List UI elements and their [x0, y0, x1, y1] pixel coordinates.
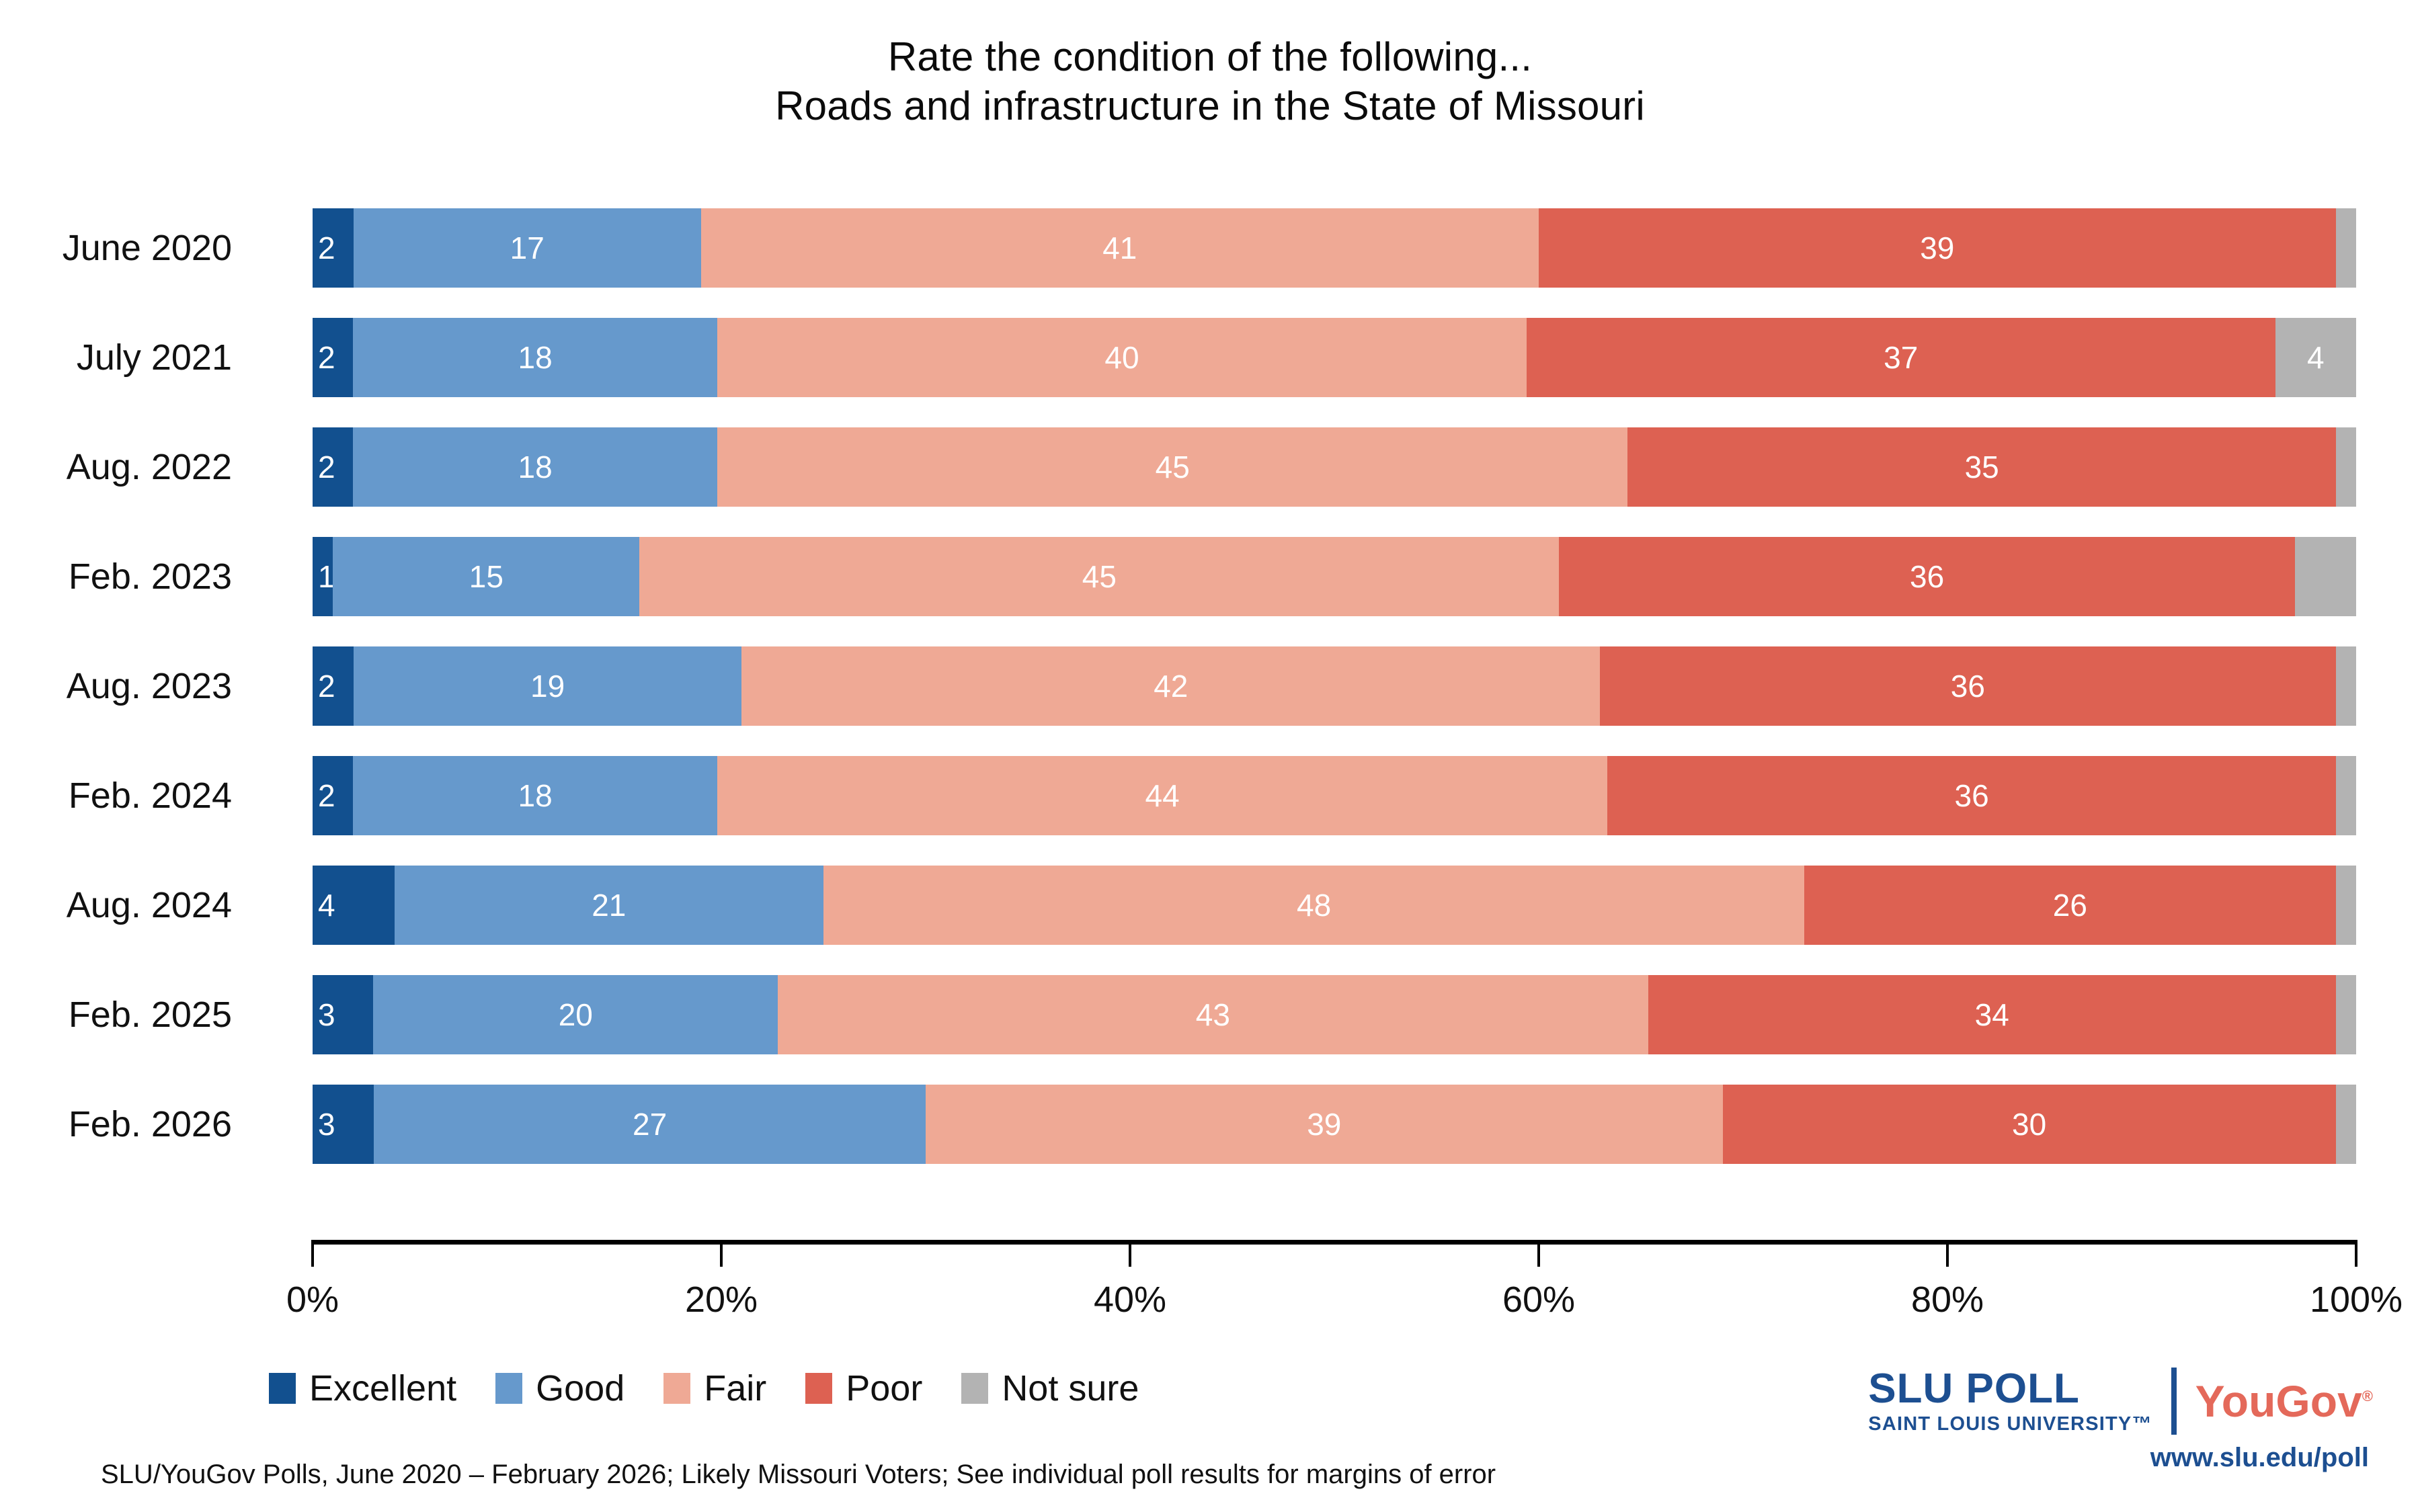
bar-segment-poor[interactable]: 34: [1648, 975, 2336, 1054]
bar-segment-excellent[interactable]: 2: [313, 427, 353, 507]
title-line-1: Rate the condition of the following...: [0, 32, 2420, 81]
bar-segment-excellent[interactable]: 2: [313, 208, 354, 288]
bar-segment-good[interactable]: 27: [374, 1085, 926, 1164]
y-axis-category-label: Aug. 2024: [0, 866, 232, 945]
x-axis-tick: [311, 1240, 314, 1267]
bar-value-label: 45: [1082, 561, 1117, 592]
bar-value-label: 4: [2307, 342, 2325, 373]
yougov-wordmark: YouGov: [2195, 1376, 2362, 1426]
x-axis-tick: [1946, 1240, 1949, 1267]
x-axis-tick-label: 0%: [286, 1279, 339, 1320]
chart-legend: ExcellentGoodFairPoorNot sure: [269, 1368, 1178, 1409]
brand-logo: SLU POLL SAINT LOUIS UNIVERSITY™ YouGov®…: [1868, 1368, 2373, 1473]
chart-row: Feb. 20263273930: [313, 1085, 2356, 1164]
legend-swatch-icon: [663, 1373, 690, 1404]
x-axis-tick: [1537, 1240, 1540, 1267]
y-axis-category-label: Aug. 2023: [0, 646, 232, 726]
bar-value-label: 36: [1955, 780, 1989, 811]
bar-value-label: 40: [1104, 342, 1139, 373]
bar-segment-good[interactable]: 19: [354, 646, 742, 726]
bar-value-label: 2: [318, 233, 335, 263]
legend-label: Poor: [846, 1368, 922, 1409]
x-axis: 0%20%40%60%80%100%: [313, 1240, 2356, 1241]
bar-value-label: 39: [1920, 233, 1954, 263]
bar-segment-not-sure[interactable]: [2336, 756, 2356, 835]
bar-value-label: 39: [1307, 1109, 1341, 1140]
legend-swatch-icon: [961, 1373, 988, 1404]
bar-segment-fair[interactable]: 45: [639, 537, 1559, 616]
registered-mark-icon: ®: [2362, 1388, 2373, 1404]
title-line-2: Roads and infrastructure in the State of…: [0, 81, 2420, 130]
chart-plot-area: June 20202174139July 202121840374Aug. 20…: [313, 208, 2356, 1196]
bar-value-label: 18: [518, 342, 552, 373]
x-axis-tick-label: 80%: [1911, 1279, 1984, 1320]
source-note: SLU/YouGov Polls, June 2020 – February 2…: [101, 1460, 1496, 1490]
stacked-bar: 1154536: [313, 537, 2356, 616]
slu-poll-wordmark: SLU POLL: [1868, 1368, 2080, 1410]
bar-segment-not-sure[interactable]: [2336, 975, 2356, 1054]
stacked-bar: 2184436: [313, 756, 2356, 835]
bar-value-label: 41: [1102, 233, 1137, 263]
bar-value-label: 4: [318, 890, 335, 921]
stacked-bar: 3204334: [313, 975, 2356, 1054]
legend-item[interactable]: Poor: [805, 1368, 922, 1409]
stacked-bar: 3273930: [313, 1085, 2356, 1164]
bar-segment-not-sure[interactable]: [2336, 866, 2356, 945]
bar-value-label: 15: [469, 561, 503, 592]
bar-value-label: 34: [1975, 999, 2009, 1030]
bar-segment-excellent[interactable]: 2: [313, 318, 353, 397]
bar-value-label: 35: [1965, 452, 1999, 482]
bar-segment-fair[interactable]: 43: [778, 975, 1648, 1054]
y-axis-category-label: Feb. 2026: [0, 1085, 232, 1164]
slu-poll-logo: SLU POLL SAINT LOUIS UNIVERSITY™: [1868, 1368, 2152, 1434]
x-axis-line: [313, 1240, 2356, 1245]
y-axis-category-label: Feb. 2024: [0, 756, 232, 835]
y-axis-category-label: July 2021: [0, 318, 232, 397]
chart-row: July 202121840374: [313, 318, 2356, 397]
bar-segment-excellent[interactable]: 3: [313, 1085, 374, 1164]
bar-segment-good[interactable]: 17: [354, 208, 701, 288]
stacked-bar: 2174139: [313, 208, 2356, 288]
bar-segment-excellent[interactable]: 4: [313, 866, 395, 945]
legend-item[interactable]: Fair: [663, 1368, 766, 1409]
chart-row: Aug. 20232194236: [313, 646, 2356, 726]
bar-segment-fair[interactable]: 40: [717, 318, 1527, 397]
bar-segment-excellent[interactable]: 2: [313, 756, 353, 835]
bar-segment-poor[interactable]: 39: [1539, 208, 2336, 288]
bar-value-label: 26: [2053, 890, 2087, 921]
legend-swatch-icon: [805, 1373, 832, 1404]
bar-segment-fair[interactable]: 39: [926, 1085, 1723, 1164]
chart-title: Rate the condition of the following... R…: [0, 32, 2420, 130]
legend-label: Not sure: [1002, 1368, 1139, 1409]
chart-row: Aug. 20244214826: [313, 866, 2356, 945]
bar-segment-good[interactable]: 21: [395, 866, 823, 945]
legend-label: Excellent: [309, 1368, 456, 1409]
bar-segment-good[interactable]: 18: [353, 427, 717, 507]
bar-segment-poor[interactable]: 26: [1804, 866, 2335, 945]
bar-value-label: 44: [1145, 780, 1180, 811]
chart-row: June 20202174139: [313, 208, 2356, 288]
bar-value-label: 30: [2012, 1109, 2046, 1140]
bar-value-label: 21: [592, 890, 626, 921]
x-axis-tick-label: 20%: [685, 1279, 758, 1320]
bar-value-label: 20: [559, 999, 593, 1030]
bar-value-label: 18: [518, 452, 552, 482]
bar-value-label: 48: [1297, 890, 1331, 921]
bar-value-label: 45: [1156, 452, 1190, 482]
legend-label: Fair: [704, 1368, 766, 1409]
bar-value-label: 37: [1884, 342, 1918, 373]
stacked-bar: 2184535: [313, 427, 2356, 507]
bar-value-label: 42: [1154, 671, 1188, 702]
bar-segment-poor[interactable]: 36: [1600, 646, 2335, 726]
x-axis-tick: [720, 1240, 723, 1267]
y-axis-category-label: Feb. 2023: [0, 537, 232, 616]
bar-segment-fair[interactable]: 41: [701, 208, 1539, 288]
stacked-bar: 4214826: [313, 866, 2356, 945]
bar-value-label: 2: [318, 671, 335, 702]
chart-row: Feb. 20253204334: [313, 975, 2356, 1054]
y-axis-category-label: June 2020: [0, 208, 232, 288]
logo-divider: [2171, 1368, 2177, 1435]
bar-value-label: 18: [518, 780, 552, 811]
x-axis-tick-label: 40%: [1094, 1279, 1166, 1320]
y-axis-category-label: Aug. 2022: [0, 427, 232, 507]
logo-row: SLU POLL SAINT LOUIS UNIVERSITY™ YouGov®: [1868, 1368, 2373, 1435]
bar-segment-poor[interactable]: 30: [1723, 1085, 2336, 1164]
legend-item[interactable]: Excellent: [269, 1368, 456, 1409]
bar-value-label: 27: [633, 1109, 667, 1140]
saint-louis-university-text: SAINT LOUIS UNIVERSITY™: [1868, 1415, 2152, 1434]
bar-value-label: 3: [318, 1109, 335, 1140]
stacked-bar: 21840374: [313, 318, 2356, 397]
bar-value-label: 2: [318, 780, 335, 811]
chart-row: Aug. 20222184535: [313, 427, 2356, 507]
poll-url[interactable]: www.slu.edu/poll: [2150, 1443, 2369, 1473]
chart-row: Feb. 20231154536: [313, 537, 2356, 616]
bar-segment-poor[interactable]: 36: [1607, 756, 2336, 835]
bar-value-label: 36: [1951, 671, 1985, 702]
legend-swatch-icon: [495, 1373, 522, 1404]
stacked-bar: 2194236: [313, 646, 2356, 726]
bar-value-label: 19: [530, 671, 565, 702]
legend-item[interactable]: Not sure: [961, 1368, 1139, 1409]
bar-segment-not-sure[interactable]: [2295, 537, 2356, 616]
legend-swatch-icon: [269, 1373, 296, 1404]
bar-segment-good[interactable]: 18: [353, 756, 717, 835]
x-axis-tick: [1129, 1240, 1131, 1267]
bar-value-label: 17: [510, 233, 544, 263]
chart-row: Feb. 20242184436: [313, 756, 2356, 835]
x-axis-tick: [2355, 1240, 2357, 1267]
bar-segment-not-sure[interactable]: [2336, 1085, 2356, 1164]
legend-item[interactable]: Good: [495, 1368, 624, 1409]
bar-segment-not-sure[interactable]: [2336, 427, 2356, 507]
bar-value-label: 43: [1196, 999, 1230, 1030]
bar-segment-excellent[interactable]: 2: [313, 646, 354, 726]
bar-value-label: 2: [318, 342, 335, 373]
bar-segment-poor[interactable]: 37: [1527, 318, 2275, 397]
bar-segment-excellent[interactable]: 3: [313, 975, 373, 1054]
bar-segment-poor[interactable]: 36: [1559, 537, 2294, 616]
bar-segment-fair[interactable]: 45: [717, 427, 1627, 507]
bar-segment-not-sure[interactable]: [2336, 208, 2356, 288]
bar-segment-good[interactable]: 20: [373, 975, 778, 1054]
bar-value-label: 36: [1910, 561, 1944, 592]
bar-segment-not-sure[interactable]: [2336, 646, 2356, 726]
bar-segment-not-sure[interactable]: 4: [2275, 318, 2356, 397]
bar-segment-fair[interactable]: 48: [823, 866, 1804, 945]
bar-segment-fair[interactable]: 44: [717, 756, 1607, 835]
bar-segment-fair[interactable]: 42: [741, 646, 1600, 726]
x-axis-tick-label: 60%: [1502, 1279, 1575, 1320]
bar-segment-good[interactable]: 18: [353, 318, 717, 397]
bar-segment-good[interactable]: 15: [333, 537, 639, 616]
x-axis-tick-label: 100%: [2310, 1279, 2403, 1320]
bar-value-label: 2: [318, 452, 335, 482]
y-axis-category-label: Feb. 2025: [0, 975, 232, 1054]
bar-segment-poor[interactable]: 35: [1627, 427, 2335, 507]
legend-label: Good: [536, 1368, 624, 1409]
bar-value-label: 3: [318, 999, 335, 1030]
bar-segment-excellent[interactable]: 1: [313, 537, 333, 616]
yougov-logo: YouGov®: [2195, 1379, 2373, 1423]
